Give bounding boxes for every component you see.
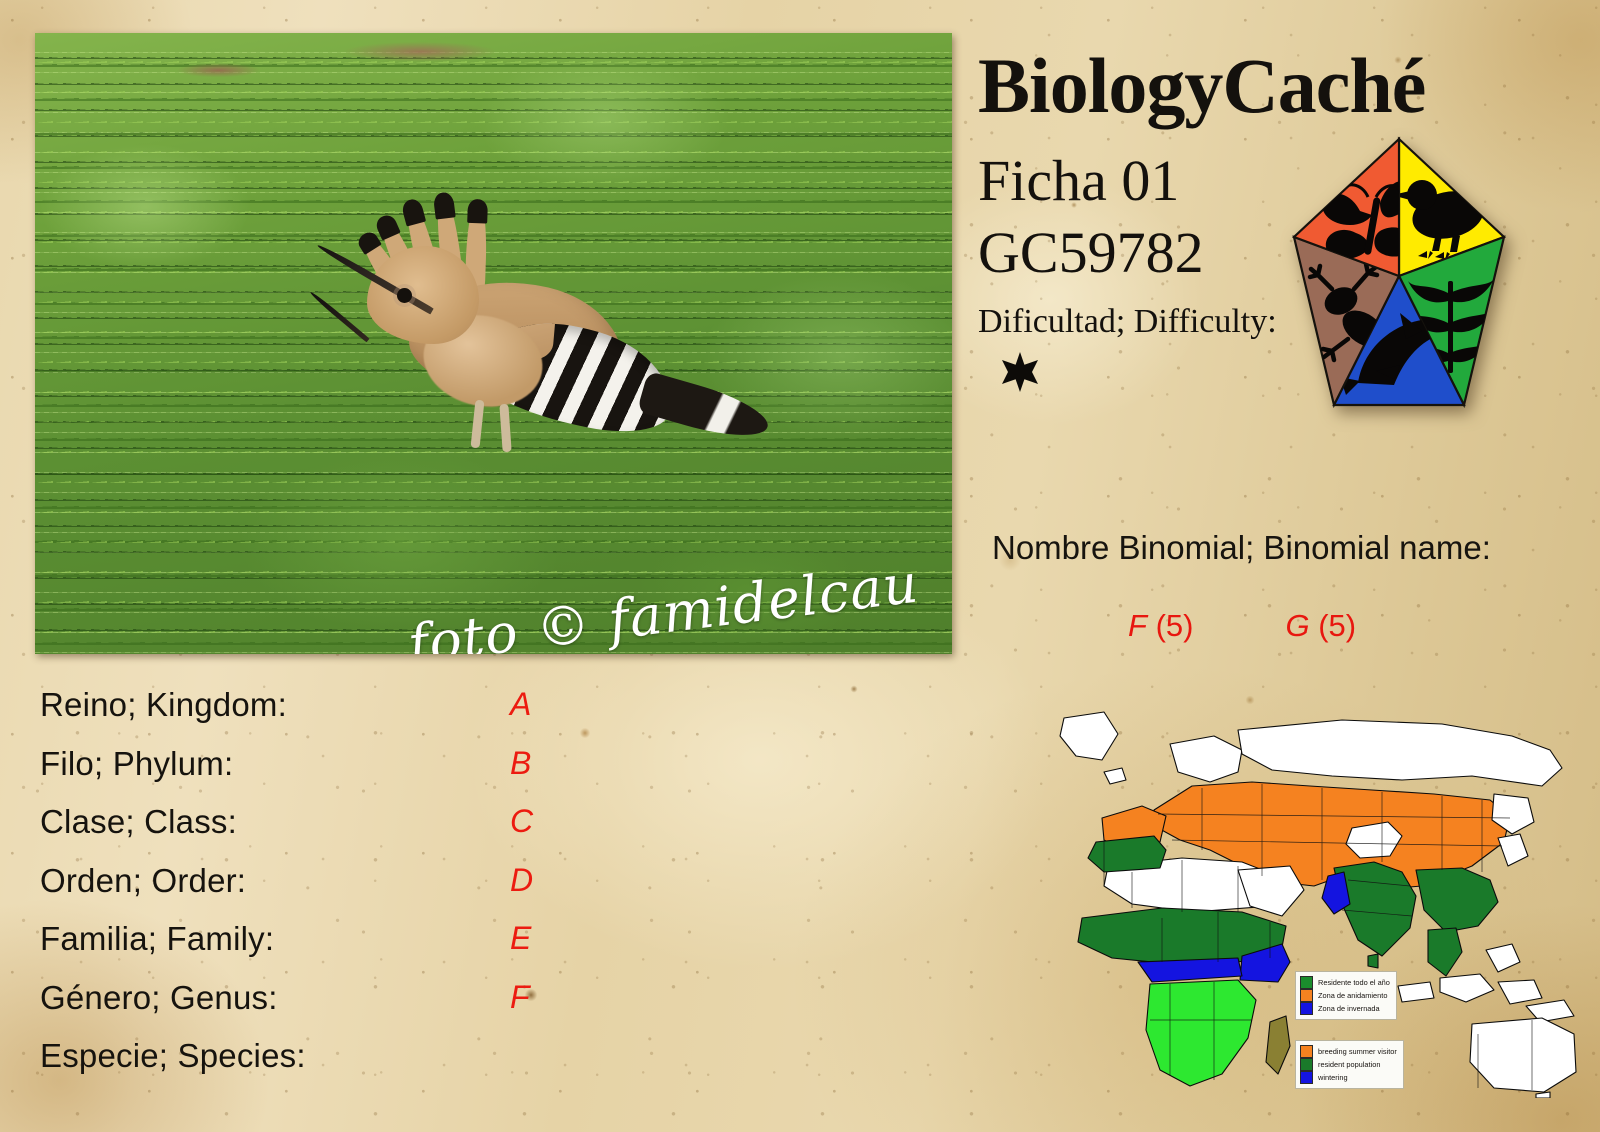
- legend-label-resident-es: Residente todo el año: [1318, 977, 1390, 988]
- biologycache-card: foto © famidelcau BiologyCaché Ficha 01 …: [0, 0, 1600, 1132]
- legend-label-wintering-en: wintering: [1318, 1072, 1348, 1083]
- legend-swatch-resident-es: [1300, 976, 1313, 989]
- bird-photo: foto © famidelcau: [35, 33, 952, 654]
- biologycache-logo: [1288, 133, 1510, 411]
- taxonomy-row: Orden; Order: D: [40, 862, 560, 921]
- legend-label-breeding-en: breeding summer visitor: [1318, 1046, 1397, 1057]
- taxonomy-row: Género; Genus: F: [40, 979, 560, 1038]
- bird-eye: [397, 288, 412, 303]
- legend-swatch-wintering-es: [1300, 1002, 1313, 1015]
- legend-item: Zona de anidamiento: [1300, 989, 1390, 1002]
- brand-title: BiologyCaché: [978, 47, 1425, 125]
- taxonomy-label-phylum: Filo; Phylum:: [40, 745, 233, 783]
- taxonomy-slot-kingdom: A: [510, 686, 531, 723]
- legend-item: Residente todo el año: [1300, 976, 1390, 989]
- bird-bill-tip: [309, 290, 370, 342]
- legend-item: Zona de invernada: [1300, 1002, 1390, 1015]
- geocache-code: GC59782: [978, 224, 1204, 282]
- difficulty-label: Dificultad; Difficulty:: [978, 303, 1277, 341]
- taxonomy-row: Filo; Phylum: B: [40, 745, 560, 804]
- legend-item: resident population: [1300, 1058, 1397, 1071]
- legend-label-wintering-es: Zona de invernada: [1318, 1003, 1380, 1014]
- legend-swatch-breeding-en: [1300, 1045, 1313, 1058]
- legend-swatch-wintering-en: [1300, 1071, 1313, 1084]
- taxonomy-slot-family: E: [510, 920, 531, 957]
- legend-label-breeding-es: Zona de anidamiento: [1318, 990, 1387, 1001]
- taxonomy-slot-class: C: [510, 803, 533, 840]
- taxonomy-label-family: Familia; Family:: [40, 920, 274, 958]
- binomial-slot-genus-letter: F: [1128, 608, 1147, 643]
- taxonomy-label-order: Orden; Order:: [40, 862, 246, 900]
- bird-tail: [637, 371, 774, 447]
- taxonomy-row: Reino; Kingdom: A: [40, 686, 560, 745]
- legend-swatch-breeding-es: [1300, 989, 1313, 1002]
- legend-label-resident-en: resident population: [1318, 1059, 1380, 1070]
- binomial-slot-species-letter: G: [1285, 608, 1309, 643]
- legend-swatch-resident-en: [1300, 1058, 1313, 1071]
- taxonomy-row: Especie; Species:: [40, 1037, 560, 1096]
- ficha-number: Ficha 01: [978, 152, 1179, 210]
- binomial-slot-genus: F (5): [1128, 608, 1193, 644]
- distribution-map: Residente todo el año Zona de anidamient…: [1042, 690, 1587, 1098]
- binomial-slot-species-count: (5): [1318, 608, 1356, 643]
- taxonomy-label-species: Especie; Species:: [40, 1037, 306, 1075]
- binomial-slot-genus-count: (5): [1156, 608, 1194, 643]
- map-legend-english: breeding summer visitor resident populat…: [1295, 1040, 1404, 1089]
- bird-leg-left: [471, 400, 485, 449]
- binomial-name-slots: F (5) G (5): [1128, 608, 1356, 644]
- map-legend-spanish: Residente todo el año Zona de anidamient…: [1295, 971, 1397, 1020]
- hoopoe-bird: [305, 188, 785, 518]
- taxonomy-label-genus: Género; Genus:: [40, 979, 278, 1017]
- binomial-name-label: Nombre Binomial; Binomial name:: [992, 529, 1491, 567]
- difficulty-rating: [1000, 352, 1040, 392]
- legend-item: wintering: [1300, 1071, 1397, 1084]
- taxonomy-row: Clase; Class: C: [40, 803, 560, 862]
- binomial-slot-species: G (5): [1285, 608, 1356, 644]
- taxonomy-row: Familia; Family: E: [40, 920, 560, 979]
- taxonomy-label-class: Clase; Class:: [40, 803, 237, 841]
- taxonomy-slot-phylum: B: [510, 745, 531, 782]
- taxonomy-label-kingdom: Reino; Kingdom:: [40, 686, 287, 724]
- taxonomy-list: Reino; Kingdom: A Filo; Phylum: B Clase;…: [40, 686, 560, 1096]
- legend-item: breeding summer visitor: [1300, 1045, 1397, 1058]
- difficulty-star-icon: [1000, 352, 1040, 392]
- bird-leg-right: [499, 404, 511, 453]
- taxonomy-slot-genus: F: [510, 979, 530, 1016]
- taxonomy-slot-order: D: [510, 862, 533, 899]
